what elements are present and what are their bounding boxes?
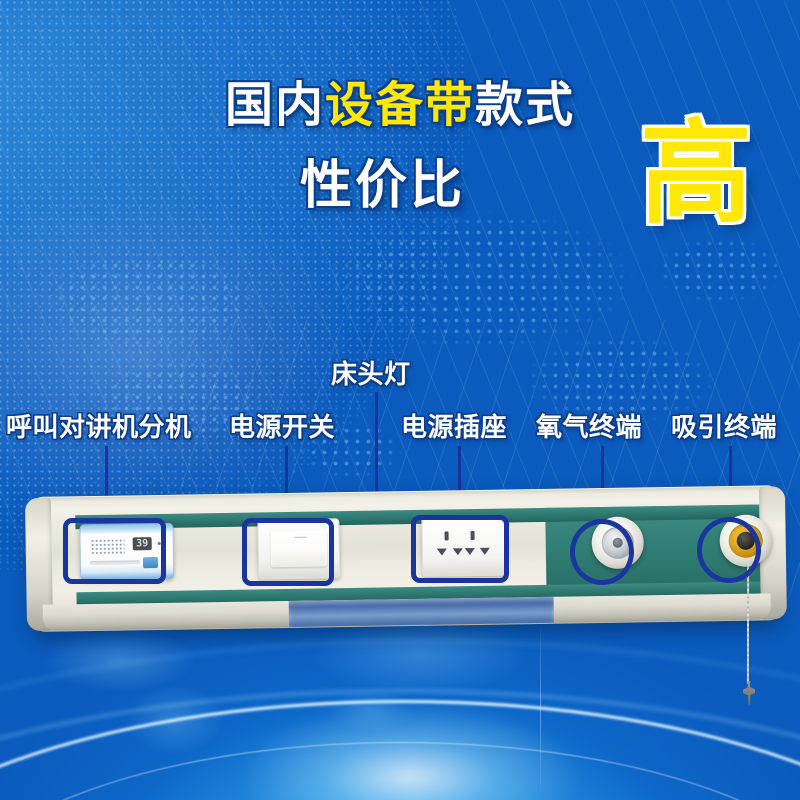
pull-cord-handle[interactable] — [743, 681, 755, 705]
highlight-switch — [242, 518, 334, 586]
highlight-intercom — [63, 518, 166, 584]
bedside-light-strip[interactable] — [289, 597, 554, 627]
promo-banner: 国内设备带款式 性价比 高 呼叫对讲机分机 电源开关 床头灯 电源插座 氧气终端… — [0, 0, 800, 800]
highlight-socket — [411, 515, 509, 583]
highlight-suction — [697, 517, 761, 583]
highlight-oxygen — [570, 519, 634, 585]
pull-cord[interactable] — [747, 564, 749, 684]
bed-head-unit-wrap: 39 — [0, 0, 800, 800]
